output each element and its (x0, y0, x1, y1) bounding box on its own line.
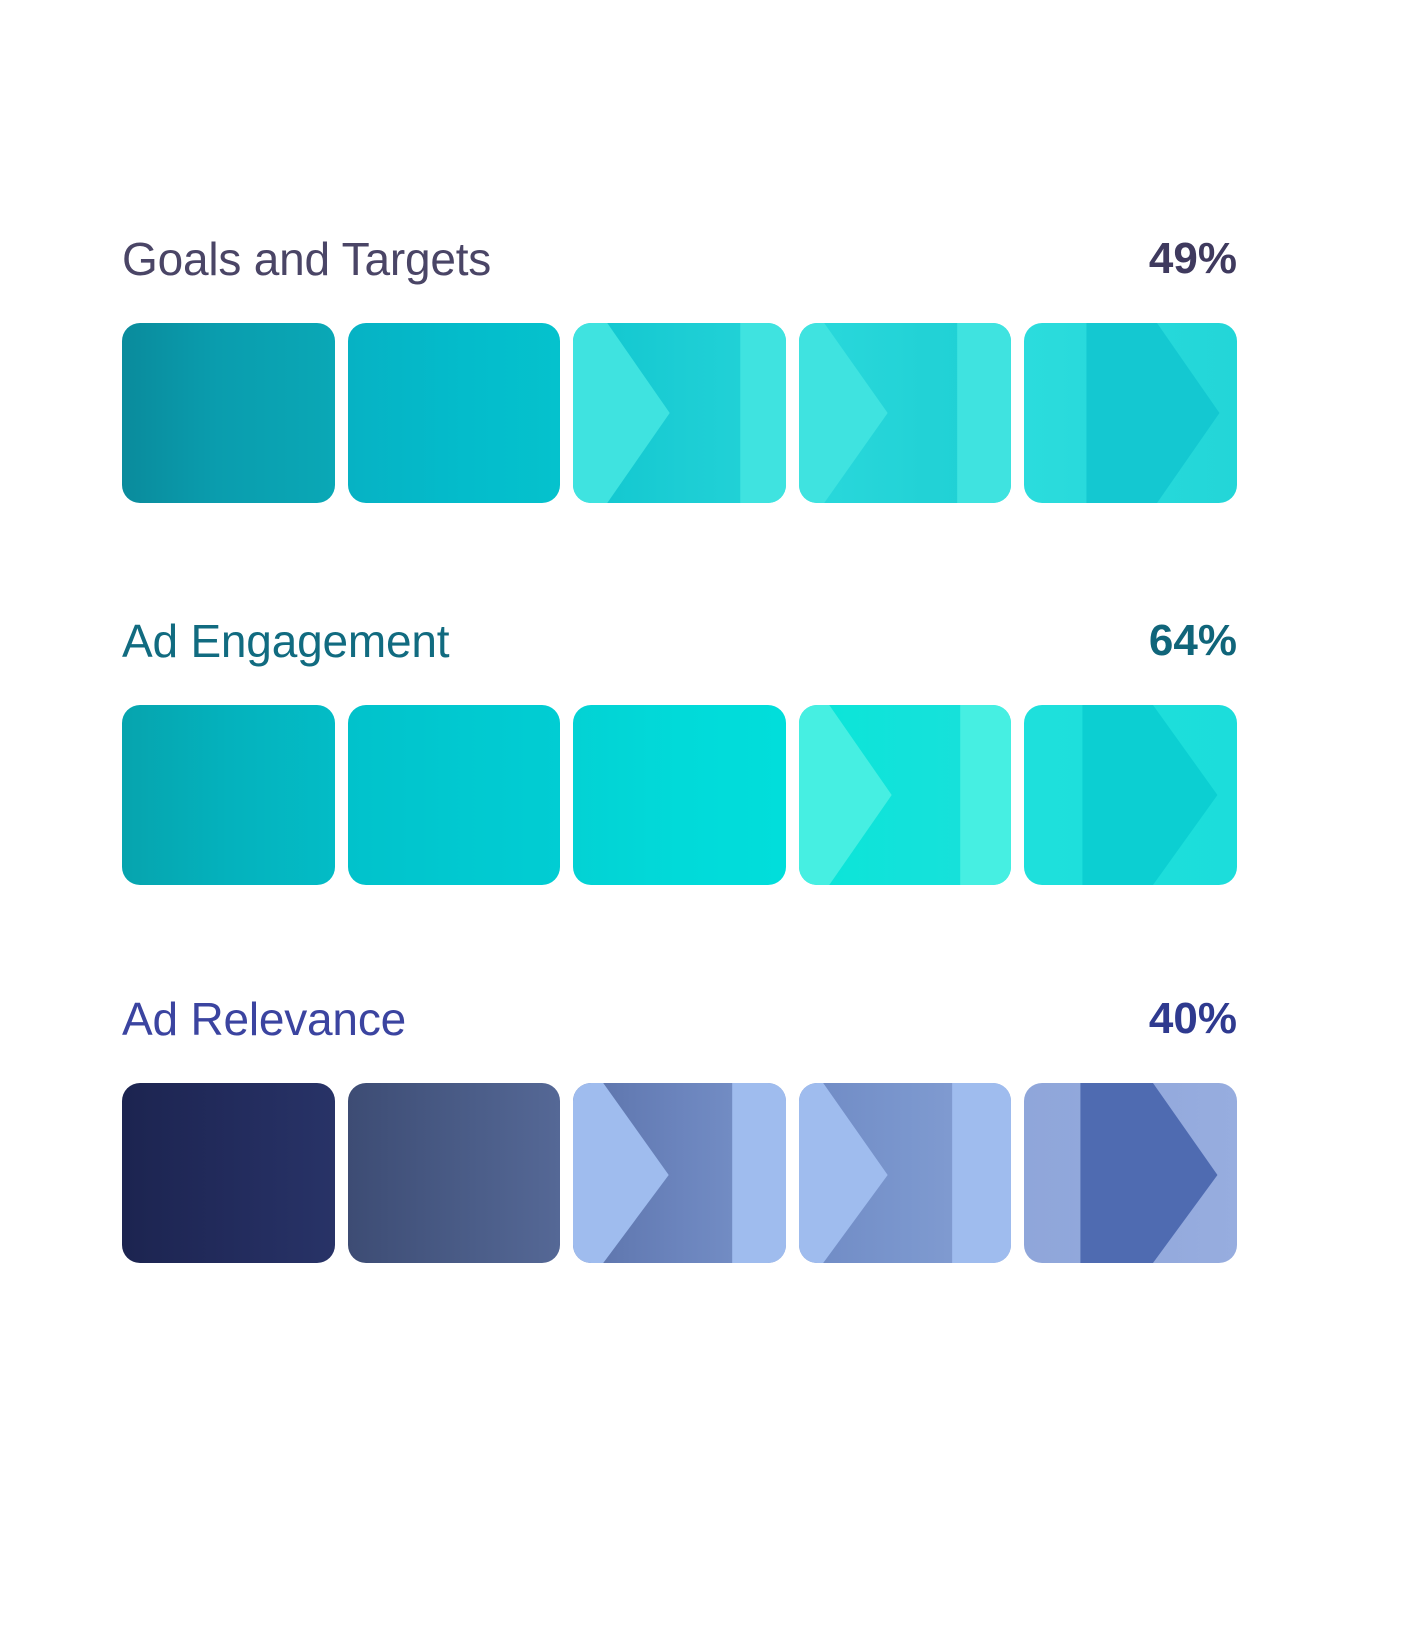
segmented-progress-bar (122, 705, 1237, 885)
progress-segment[interactable] (348, 1083, 561, 1263)
progress-segment[interactable] (122, 705, 335, 885)
progress-segment[interactable] (122, 1083, 335, 1263)
segmented-progress-bar (122, 1083, 1237, 1263)
progress-segment[interactable] (1024, 323, 1237, 503)
metric-percent: 49% (1149, 237, 1237, 281)
progress-segment[interactable] (348, 705, 561, 885)
metric-section-ad-engagement: Ad Engagement 64% (122, 604, 1237, 885)
segment-fill (573, 705, 786, 885)
progress-segment[interactable] (799, 705, 1012, 885)
chevron-icon (573, 323, 786, 503)
chevron-icon (799, 1083, 1012, 1263)
progress-segment[interactable] (122, 323, 335, 503)
segment-fill (348, 1083, 561, 1263)
chevron-icon (1024, 323, 1237, 503)
metric-header: Ad Relevance 40% (122, 982, 1237, 1056)
chevron-icon (573, 1083, 786, 1263)
chevron-icon (1024, 1083, 1237, 1263)
metric-percent: 40% (1149, 997, 1237, 1041)
segment-fill (348, 705, 561, 885)
metric-title: Goals and Targets (122, 236, 491, 282)
metric-title: Ad Engagement (122, 618, 449, 664)
metric-title: Ad Relevance (122, 996, 406, 1042)
metric-section-goals-and-targets: Goals and Targets 49% (122, 222, 1237, 503)
metric-percent: 64% (1149, 619, 1237, 663)
segment-fill (122, 323, 335, 503)
progress-segment[interactable] (348, 323, 561, 503)
segment-fill (122, 1083, 335, 1263)
chevron-icon (799, 705, 1012, 885)
segmented-progress-bar (122, 323, 1237, 503)
chevron-icon (1024, 705, 1237, 885)
progress-segment[interactable] (799, 323, 1012, 503)
chevron-icon (799, 323, 1012, 503)
metric-header: Goals and Targets 49% (122, 222, 1237, 296)
metric-section-ad-relevance: Ad Relevance 40% (122, 982, 1237, 1263)
metric-header: Ad Engagement 64% (122, 604, 1237, 678)
progress-segment[interactable] (1024, 1083, 1237, 1263)
progress-segment[interactable] (573, 323, 786, 503)
progress-segment[interactable] (573, 1083, 786, 1263)
progress-segment[interactable] (799, 1083, 1012, 1263)
progress-segment[interactable] (573, 705, 786, 885)
score-meter-panel: Goals and Targets 49% (0, 0, 1420, 1640)
progress-segment[interactable] (1024, 705, 1237, 885)
segment-fill (122, 705, 335, 885)
segment-fill (348, 323, 561, 503)
